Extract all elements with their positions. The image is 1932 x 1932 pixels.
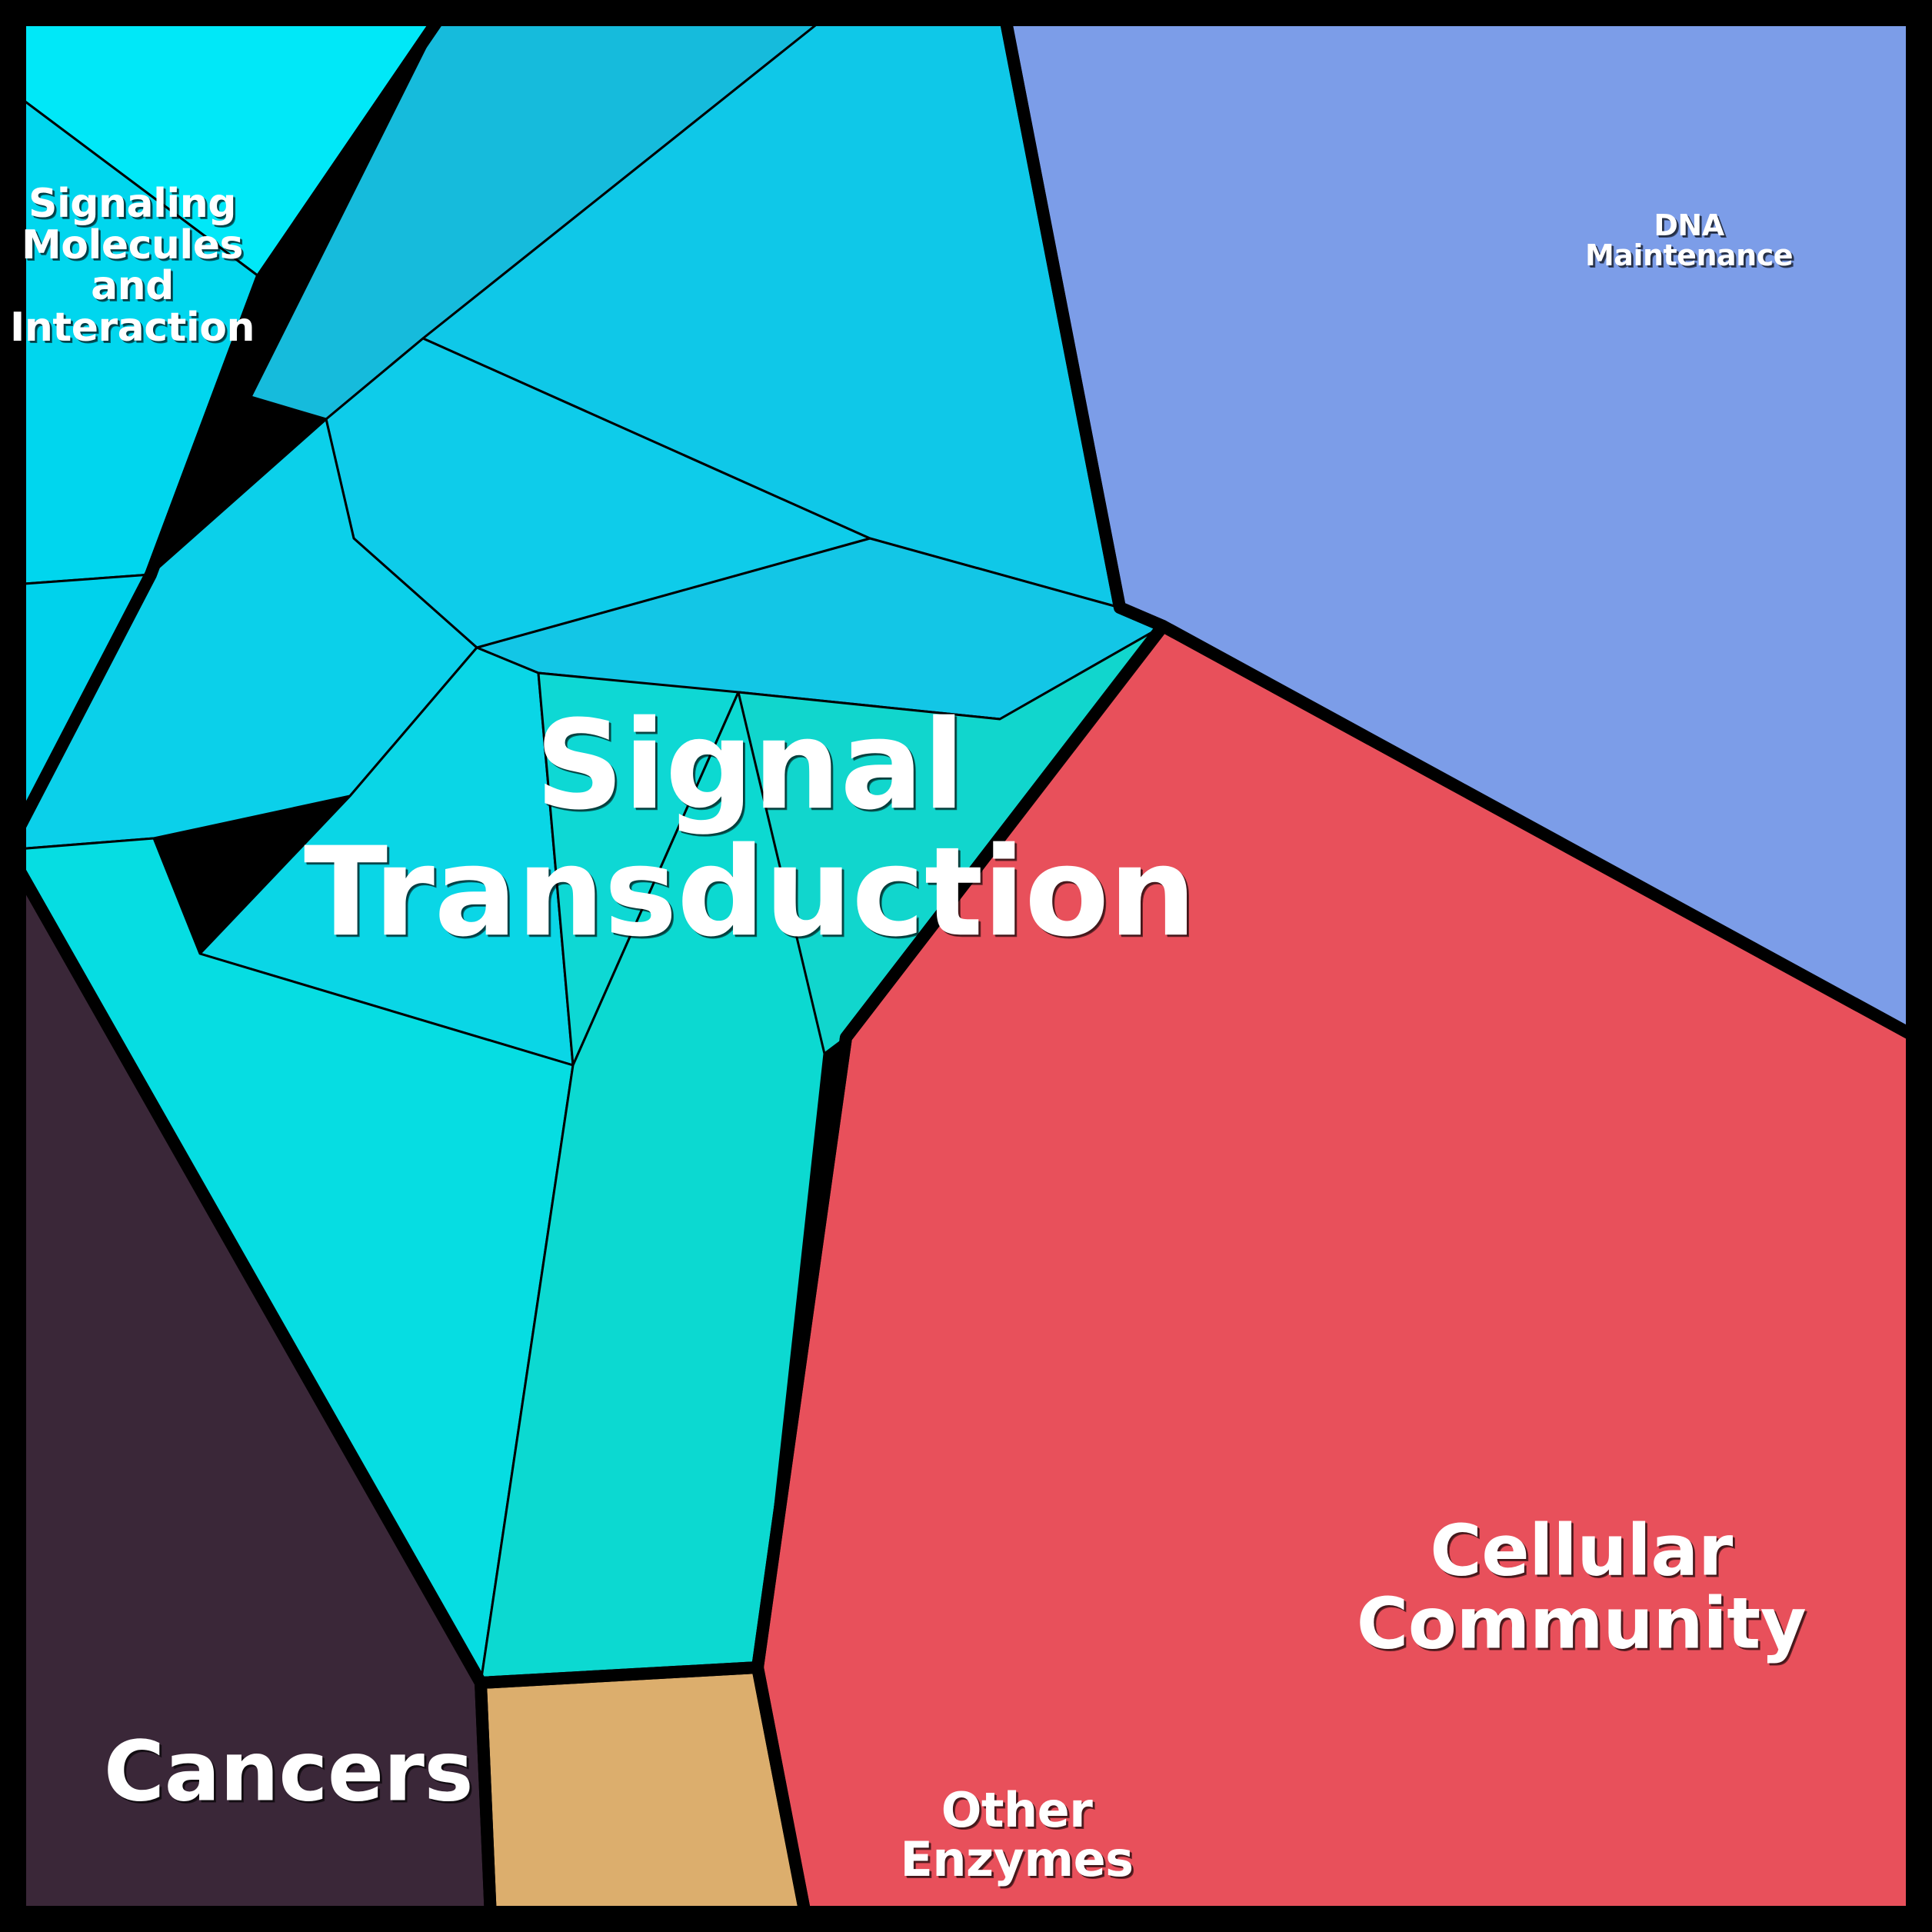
cell-oe-1[interactable] (481, 1667, 806, 1918)
voronoi-treemap-figure: Signaling Molecules and InteractionSigna… (0, 0, 1932, 1932)
voronoi-canvas (0, 0, 1932, 1932)
